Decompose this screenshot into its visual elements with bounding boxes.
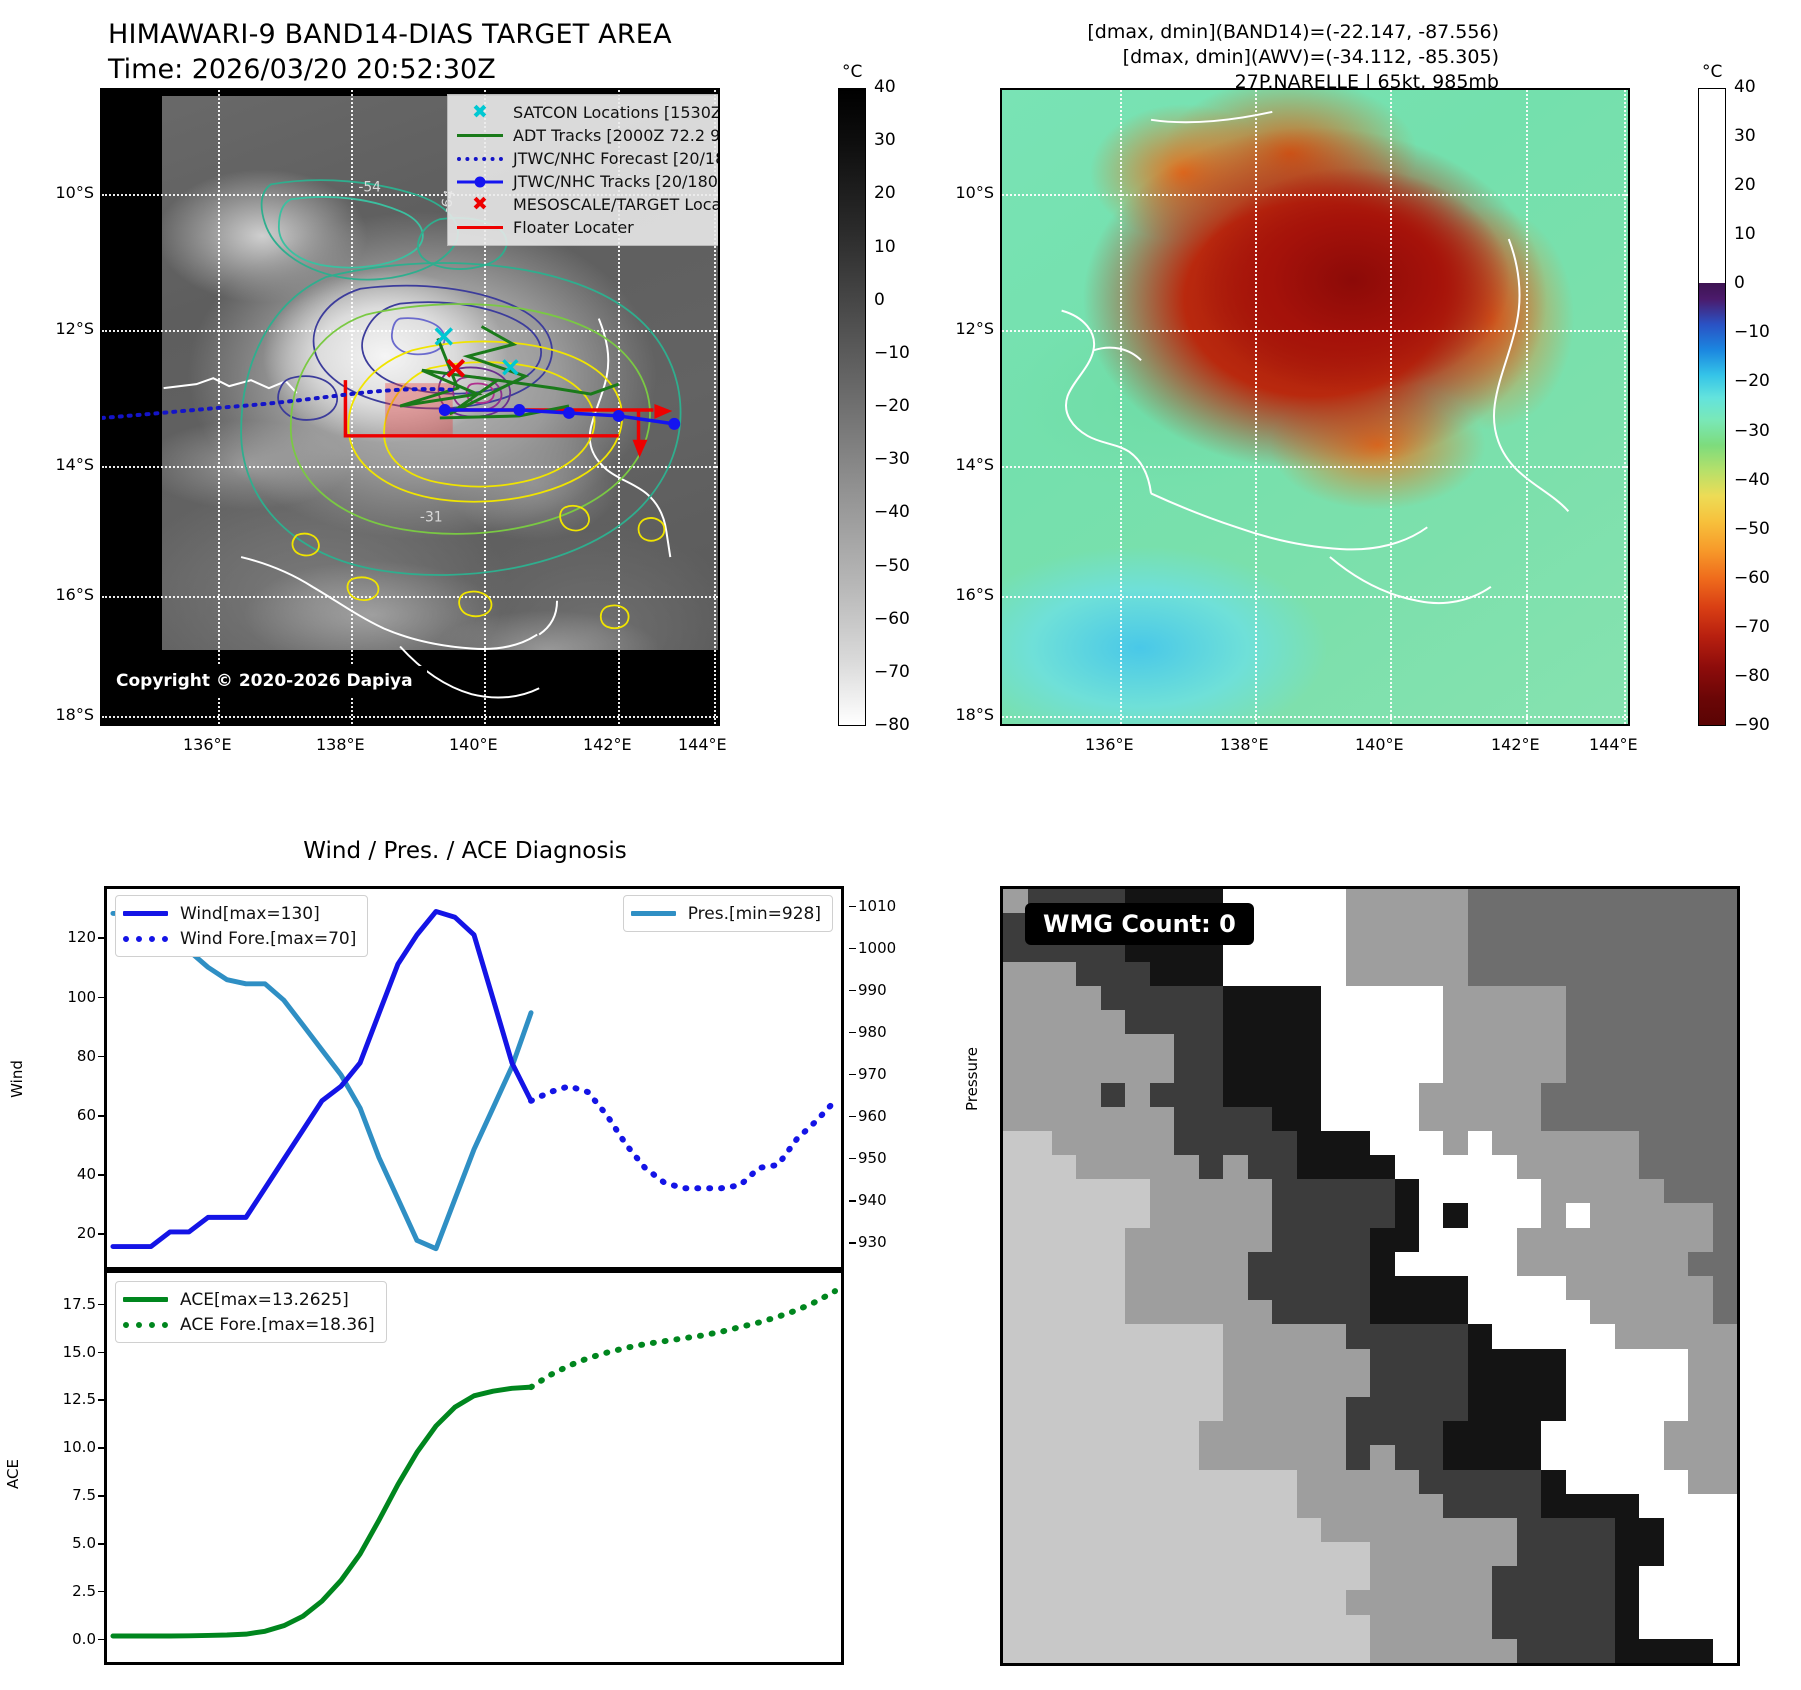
wmg-cell	[1052, 1034, 1077, 1059]
wmg-cell	[1028, 1615, 1053, 1640]
wmg-cell	[1443, 1228, 1468, 1253]
wmg-cell	[1419, 1494, 1444, 1519]
wmg-cell	[1272, 1615, 1297, 1640]
wmg-cell	[1590, 1373, 1615, 1398]
wmg-cell	[1199, 1203, 1224, 1228]
wmg-cell	[1468, 1034, 1493, 1059]
wmg-cell	[1443, 889, 1468, 914]
wmg-cell	[1688, 1494, 1713, 1519]
wmg-cell	[1272, 1542, 1297, 1567]
wmg-cell	[1028, 1010, 1053, 1035]
wmg-cell	[1395, 1276, 1420, 1301]
wmg-cell	[1517, 1542, 1542, 1567]
wmg-cell	[1566, 1010, 1591, 1035]
wmg-cell	[1688, 1252, 1713, 1277]
ir-lat-tick-4: 18°S	[36, 705, 94, 724]
wmg-cell	[1052, 1300, 1077, 1325]
wmg-cell	[1297, 1615, 1322, 1640]
colorbar-tick-label: −80	[1734, 666, 1770, 686]
axis-tick-label: 960	[858, 1107, 887, 1125]
wmg-cell	[1223, 1566, 1248, 1591]
wmg-cell	[1443, 986, 1468, 1011]
wmg-cell	[1713, 1566, 1738, 1591]
axis-tick-mark	[98, 1639, 105, 1641]
wmg-cell	[1346, 1590, 1371, 1615]
wmg-cell	[1150, 962, 1175, 987]
wmg-cell	[1688, 1324, 1713, 1349]
wmg-cell	[1664, 889, 1689, 914]
wmg-cell	[1297, 1010, 1322, 1035]
wmg-cell	[1297, 1179, 1322, 1204]
wmg-cell	[1615, 1445, 1640, 1470]
wmg-cell	[1028, 1155, 1053, 1180]
wmg-cell	[1150, 1639, 1175, 1664]
wmg-cell	[1321, 1010, 1346, 1035]
wmg-cell	[1346, 1058, 1371, 1083]
wmg-cell	[1052, 1058, 1077, 1083]
awv-lat-tick-2: 14°S	[936, 455, 994, 474]
wmg-cell	[1321, 1445, 1346, 1470]
wmg-cell	[1174, 986, 1199, 1011]
axis-tick-mark	[849, 990, 856, 992]
wmg-cell	[1346, 1083, 1371, 1108]
wmg-cell	[1370, 1010, 1395, 1035]
wmg-cell	[1395, 1179, 1420, 1204]
wmg-cell	[1248, 1155, 1273, 1180]
wmg-cell	[1028, 1324, 1053, 1349]
wmg-cell	[1688, 1566, 1713, 1591]
wmg-cell	[1150, 1421, 1175, 1446]
wmg-cell	[1076, 986, 1101, 1011]
awv-lat-tick-4: 18°S	[936, 705, 994, 724]
wmg-cell	[1272, 1421, 1297, 1446]
wmg-cell	[1492, 1203, 1517, 1228]
wmg-cell	[1468, 986, 1493, 1011]
wmg-cell	[1713, 1494, 1738, 1519]
wmg-cell	[1297, 1542, 1322, 1567]
wmg-cell	[1125, 1324, 1150, 1349]
wmg-cell	[1664, 1542, 1689, 1567]
wmg-cell	[1346, 1252, 1371, 1277]
pressure-series	[113, 913, 531, 1248]
axis-tick-label: 40	[36, 1165, 96, 1183]
wmg-cell	[1223, 1107, 1248, 1132]
wmg-cell	[1052, 1276, 1077, 1301]
wmg-cell	[1346, 1566, 1371, 1591]
wmg-cell	[1541, 1252, 1566, 1277]
legend-item-jtwc-forecast: JTWC/NHC Forecast [20/1800Z]	[455, 147, 720, 170]
wmg-cell	[1248, 1494, 1273, 1519]
wmg-cell	[1150, 1155, 1175, 1180]
wmg-cell	[1566, 1470, 1591, 1495]
wmg-cell	[1468, 937, 1493, 962]
wmg-cell	[1443, 1542, 1468, 1567]
wmg-cell	[1566, 1445, 1591, 1470]
wmg-cell	[1713, 1542, 1738, 1567]
wmg-cell	[1688, 1276, 1713, 1301]
wmg-cell	[1076, 1397, 1101, 1422]
wmg-cell	[1297, 913, 1322, 938]
wmg-cell	[1370, 1445, 1395, 1470]
wmg-cell	[1419, 1397, 1444, 1422]
wmg-cell	[1052, 1397, 1077, 1422]
wmg-cell	[1492, 1518, 1517, 1543]
wmg-cell	[1517, 1615, 1542, 1640]
wmg-cell	[1248, 1131, 1273, 1156]
wmg-cell	[1150, 1034, 1175, 1059]
wmg-cell	[1272, 1566, 1297, 1591]
wmg-cell	[1370, 1639, 1395, 1664]
wmg-cell	[1419, 1373, 1444, 1398]
title-timestamp: Time: 2026/03/20 20:52:30Z	[108, 53, 672, 88]
wmg-cell	[1297, 1445, 1322, 1470]
wmg-cell	[1541, 1494, 1566, 1519]
wmg-cell	[1713, 1445, 1738, 1470]
wmg-cell	[1419, 1349, 1444, 1374]
wmg-cell	[1664, 1131, 1689, 1156]
wmg-cell	[1248, 1083, 1273, 1108]
wmg-cell	[1713, 1107, 1738, 1132]
wmg-cell	[1321, 1155, 1346, 1180]
wmg-cell	[1297, 1349, 1322, 1374]
wmg-cell	[1028, 1542, 1053, 1567]
wmg-cell	[1150, 1518, 1175, 1543]
wmg-cell	[1150, 1058, 1175, 1083]
wmg-cell	[1664, 1010, 1689, 1035]
wmg-cell	[1248, 1107, 1273, 1132]
wmg-cell	[1419, 1445, 1444, 1470]
wmg-cell	[1468, 1203, 1493, 1228]
wmg-cell	[1566, 1131, 1591, 1156]
wmg-cell	[1370, 1203, 1395, 1228]
wmg-cell	[1076, 1203, 1101, 1228]
wmg-cell	[1664, 1155, 1689, 1180]
wmg-cell	[1125, 1373, 1150, 1398]
wmg-cell	[1639, 1324, 1664, 1349]
wmg-cell	[1370, 1590, 1395, 1615]
wmg-cell	[1590, 1518, 1615, 1543]
axis-tick-label: 5.0	[36, 1534, 96, 1552]
wmg-cell	[1419, 889, 1444, 914]
legend-label: Pres.[min=928]	[688, 904, 821, 924]
wmg-cell	[1150, 1276, 1175, 1301]
wmg-cell	[1321, 1421, 1346, 1446]
wmg-cell	[1443, 937, 1468, 962]
wmg-cell	[1639, 1470, 1664, 1495]
floater-arrow-head	[633, 440, 648, 458]
wmg-cell	[1346, 1324, 1371, 1349]
wmg-cell	[1370, 1566, 1395, 1591]
wmg-cell	[1395, 1542, 1420, 1567]
wmg-cell	[1443, 1276, 1468, 1301]
wmg-cell	[1003, 1179, 1028, 1204]
wmg-cell	[1248, 1276, 1273, 1301]
legend-item-ace: ACE[max=13.2625]	[123, 1287, 375, 1312]
wmg-cell	[1395, 913, 1420, 938]
forecast-dotted-icon	[455, 157, 505, 161]
wmg-cell	[1223, 1445, 1248, 1470]
pressure-chart-legend: Pres.[min=928]	[623, 895, 833, 932]
wmg-cell	[1468, 1566, 1493, 1591]
wmg-cell	[1321, 1518, 1346, 1543]
wmg-cell	[1370, 1107, 1395, 1132]
wmg-cell	[1370, 1083, 1395, 1108]
wmg-cell	[1101, 1590, 1126, 1615]
wmg-cell	[1664, 937, 1689, 962]
wmg-cell	[1664, 1349, 1689, 1374]
wmg-cell	[1492, 1324, 1517, 1349]
wmg-cell	[1443, 1373, 1468, 1398]
wmg-cell	[1615, 913, 1640, 938]
wmg-cell	[1028, 1494, 1053, 1519]
wmg-cell	[1566, 1324, 1591, 1349]
wmg-cell	[1272, 1252, 1297, 1277]
wmg-cell	[1566, 1349, 1591, 1374]
ace-series	[113, 1387, 531, 1636]
wmg-cell	[1639, 1397, 1664, 1422]
wmg-cell	[1541, 1083, 1566, 1108]
wmg-cell	[1395, 1228, 1420, 1253]
wmg-cell	[1468, 1324, 1493, 1349]
wmg-cell	[1517, 1518, 1542, 1543]
wmg-cell	[1370, 1058, 1395, 1083]
wmg-cell	[1223, 1373, 1248, 1398]
wmg-cell	[1272, 1034, 1297, 1059]
wmg-cell	[1419, 1203, 1444, 1228]
wmg-cell	[1566, 1300, 1591, 1325]
wmg-cell	[1419, 1470, 1444, 1495]
wmg-cell	[1150, 1107, 1175, 1132]
wmg-cell	[1664, 913, 1689, 938]
wmg-cell	[1566, 913, 1591, 938]
wmg-cell	[1174, 1421, 1199, 1446]
wmg-cell	[1150, 1494, 1175, 1519]
ace-forecast-series	[531, 1291, 835, 1387]
wmg-cell	[1101, 1470, 1126, 1495]
wmg-cell	[1370, 986, 1395, 1011]
wmg-cell	[1150, 1083, 1175, 1108]
wmg-cell	[1125, 1470, 1150, 1495]
wmg-cell	[1541, 1058, 1566, 1083]
wmg-classification-map[interactable]: WMG Count: 0	[1000, 886, 1740, 1666]
wmg-cell	[1346, 913, 1371, 938]
wmg-cell	[1199, 1445, 1224, 1470]
wmg-cell	[1297, 1566, 1322, 1591]
wmg-cell	[1615, 1107, 1640, 1132]
wmg-cell	[1052, 986, 1077, 1011]
wmg-cell	[1419, 1252, 1444, 1277]
wmg-cell	[1541, 1300, 1566, 1325]
wmg-cell	[1517, 1034, 1542, 1059]
axis-tick-mark	[98, 937, 105, 939]
wmg-cell	[1321, 1131, 1346, 1156]
wmg-cell	[1419, 1155, 1444, 1180]
wmg-cell	[1517, 1421, 1542, 1446]
wmg-cell	[1468, 1155, 1493, 1180]
wmg-cell	[1713, 986, 1738, 1011]
wmg-cell	[1566, 1397, 1591, 1422]
wmg-cell	[1713, 1252, 1738, 1277]
wmg-cell	[1248, 1373, 1273, 1398]
wmg-cell	[1150, 1179, 1175, 1204]
wmg-cell	[1199, 1518, 1224, 1543]
wmg-cell	[1321, 1203, 1346, 1228]
wmg-cell	[1076, 1373, 1101, 1398]
wmg-cell	[1395, 889, 1420, 914]
wmg-cell	[1199, 1276, 1224, 1301]
wmg-cell	[1101, 1397, 1126, 1422]
ace-chart[interactable]: ACE[max=13.2625] ACE Fore.[max=18.36]	[104, 1270, 844, 1665]
wmg-cell	[1541, 1590, 1566, 1615]
wmg-cell	[1566, 1615, 1591, 1640]
wmg-cell	[1223, 1034, 1248, 1059]
wmg-cell	[1664, 962, 1689, 987]
wmg-cell	[1664, 986, 1689, 1011]
wmg-cell	[1297, 962, 1322, 987]
wmg-cell	[1370, 1179, 1395, 1204]
wmg-cell	[1321, 889, 1346, 914]
wmg-cell	[1590, 1034, 1615, 1059]
wmg-cell	[1517, 1566, 1542, 1591]
wmg-cell	[1639, 986, 1664, 1011]
wmg-cell	[1101, 1155, 1126, 1180]
wmg-cell	[1272, 1083, 1297, 1108]
wmg-cell	[1297, 1421, 1322, 1446]
wmg-cell	[1468, 1058, 1493, 1083]
wmg-cell	[1346, 986, 1371, 1011]
wmg-cell	[1664, 1058, 1689, 1083]
wmg-cell	[1639, 1276, 1664, 1301]
ir-satellite-map[interactable]: -54 -64 -31	[100, 88, 720, 726]
wmg-cell	[1590, 1228, 1615, 1253]
track-line-dot-icon	[455, 180, 505, 184]
wmg-cell	[1297, 1058, 1322, 1083]
wmg-cell	[1517, 1058, 1542, 1083]
wmg-cell	[1174, 1590, 1199, 1615]
wmg-cell	[1639, 1445, 1664, 1470]
wmg-cell	[1346, 1203, 1371, 1228]
wmg-cell	[1174, 1107, 1199, 1132]
wmg-cell	[1199, 1373, 1224, 1398]
legend-item-ace-forecast: ACE Fore.[max=18.36]	[123, 1312, 375, 1337]
wmg-cell	[1101, 1083, 1126, 1108]
wmg-cell	[1443, 1324, 1468, 1349]
wmg-cell	[1003, 1542, 1028, 1567]
wmg-cell	[1052, 1010, 1077, 1035]
wmg-cell	[1419, 1566, 1444, 1591]
wmg-cell	[1370, 1034, 1395, 1059]
wmg-cell	[1688, 937, 1713, 962]
wmg-cell	[1248, 1518, 1273, 1543]
wmg-cell	[1321, 1276, 1346, 1301]
wmg-cell	[1639, 1010, 1664, 1035]
wmg-cell	[1125, 1494, 1150, 1519]
wmg-cell	[1174, 1639, 1199, 1664]
colorbar-tick-label: 20	[874, 183, 896, 203]
colorbar-tick-label: 10	[1734, 224, 1756, 244]
wmg-cell	[1492, 1155, 1517, 1180]
wmg-cell	[1297, 1276, 1322, 1301]
wmg-cell	[1150, 1590, 1175, 1615]
wmg-cell	[1125, 1276, 1150, 1301]
wmg-cell	[1615, 986, 1640, 1011]
wmg-cell	[1590, 1107, 1615, 1132]
wmg-cell	[1566, 1058, 1591, 1083]
wmg-cell	[1028, 1566, 1053, 1591]
wmg-cell	[1076, 1566, 1101, 1591]
wmg-cell	[1346, 1276, 1371, 1301]
wmg-cell	[1395, 986, 1420, 1011]
wmg-cell	[1076, 1107, 1101, 1132]
copyright-notice: Copyright © 2020-2026 Dapiya	[106, 666, 427, 696]
axis-tick-label: 950	[858, 1149, 887, 1167]
wmg-cell	[1566, 1639, 1591, 1664]
wmg-cell	[1150, 1373, 1175, 1398]
wmg-cell	[1370, 1542, 1395, 1567]
wmg-cell	[1517, 1324, 1542, 1349]
wmg-cell	[1713, 1349, 1738, 1374]
wmg-cell	[1028, 1083, 1053, 1108]
wmg-cell	[1541, 1276, 1566, 1301]
axis-tick-label: 17.5	[36, 1295, 96, 1313]
wmg-cell	[1419, 1083, 1444, 1108]
wmg-cell	[1003, 1034, 1028, 1059]
wmg-cell	[1003, 1470, 1028, 1495]
wmg-cell	[1664, 1324, 1689, 1349]
axis-tick-label: 80	[36, 1047, 96, 1065]
wmg-cell	[1370, 1421, 1395, 1446]
wmg-cell	[1517, 1590, 1542, 1615]
wmg-cell	[1223, 962, 1248, 987]
wmg-cell	[1639, 1542, 1664, 1567]
coastline	[1062, 112, 1569, 603]
wmg-cell	[1272, 1494, 1297, 1519]
wmg-cell	[1028, 1203, 1053, 1228]
wmg-cell	[1688, 1083, 1713, 1108]
wmg-cell	[1419, 1300, 1444, 1325]
wmg-cell	[1272, 1324, 1297, 1349]
wmg-cell	[1419, 1010, 1444, 1035]
wmg-cell	[1590, 1155, 1615, 1180]
wmg-cell	[1346, 962, 1371, 987]
wmg-cell	[1076, 1542, 1101, 1567]
awv-satellite-map[interactable]	[1000, 88, 1630, 726]
wmg-cell	[1223, 986, 1248, 1011]
axis-tick-label: 1010	[858, 897, 896, 915]
wmg-cell	[1248, 986, 1273, 1011]
wmg-cell	[1541, 1179, 1566, 1204]
wmg-cell	[1297, 1203, 1322, 1228]
wmg-cell	[1443, 1155, 1468, 1180]
stat-awv: [dmax, dmin](AWV)=(-34.112, -85.305)	[1087, 45, 1499, 70]
wmg-cell	[1174, 1494, 1199, 1519]
wmg-cell	[1076, 1470, 1101, 1495]
wmg-cell	[1664, 1470, 1689, 1495]
wmg-cell	[1468, 1349, 1493, 1374]
wmg-cell	[1615, 1010, 1640, 1035]
wmg-cell	[1052, 1228, 1077, 1253]
wmg-cell	[1395, 1010, 1420, 1035]
wmg-cell	[1664, 1300, 1689, 1325]
legend-item-mesoscale: ✖ MESOSCALE/TARGET Location	[455, 193, 720, 216]
axis-tick-label: 990	[858, 981, 887, 999]
wmg-cell	[1590, 1397, 1615, 1422]
wmg-cell	[1541, 1445, 1566, 1470]
wind-pressure-chart[interactable]: Wind[max=130] Wind Fore.[max=70] Pres.[m…	[104, 886, 844, 1270]
wmg-cell	[1370, 1494, 1395, 1519]
wmg-cell	[1566, 1179, 1591, 1204]
wmg-cell	[1150, 1470, 1175, 1495]
